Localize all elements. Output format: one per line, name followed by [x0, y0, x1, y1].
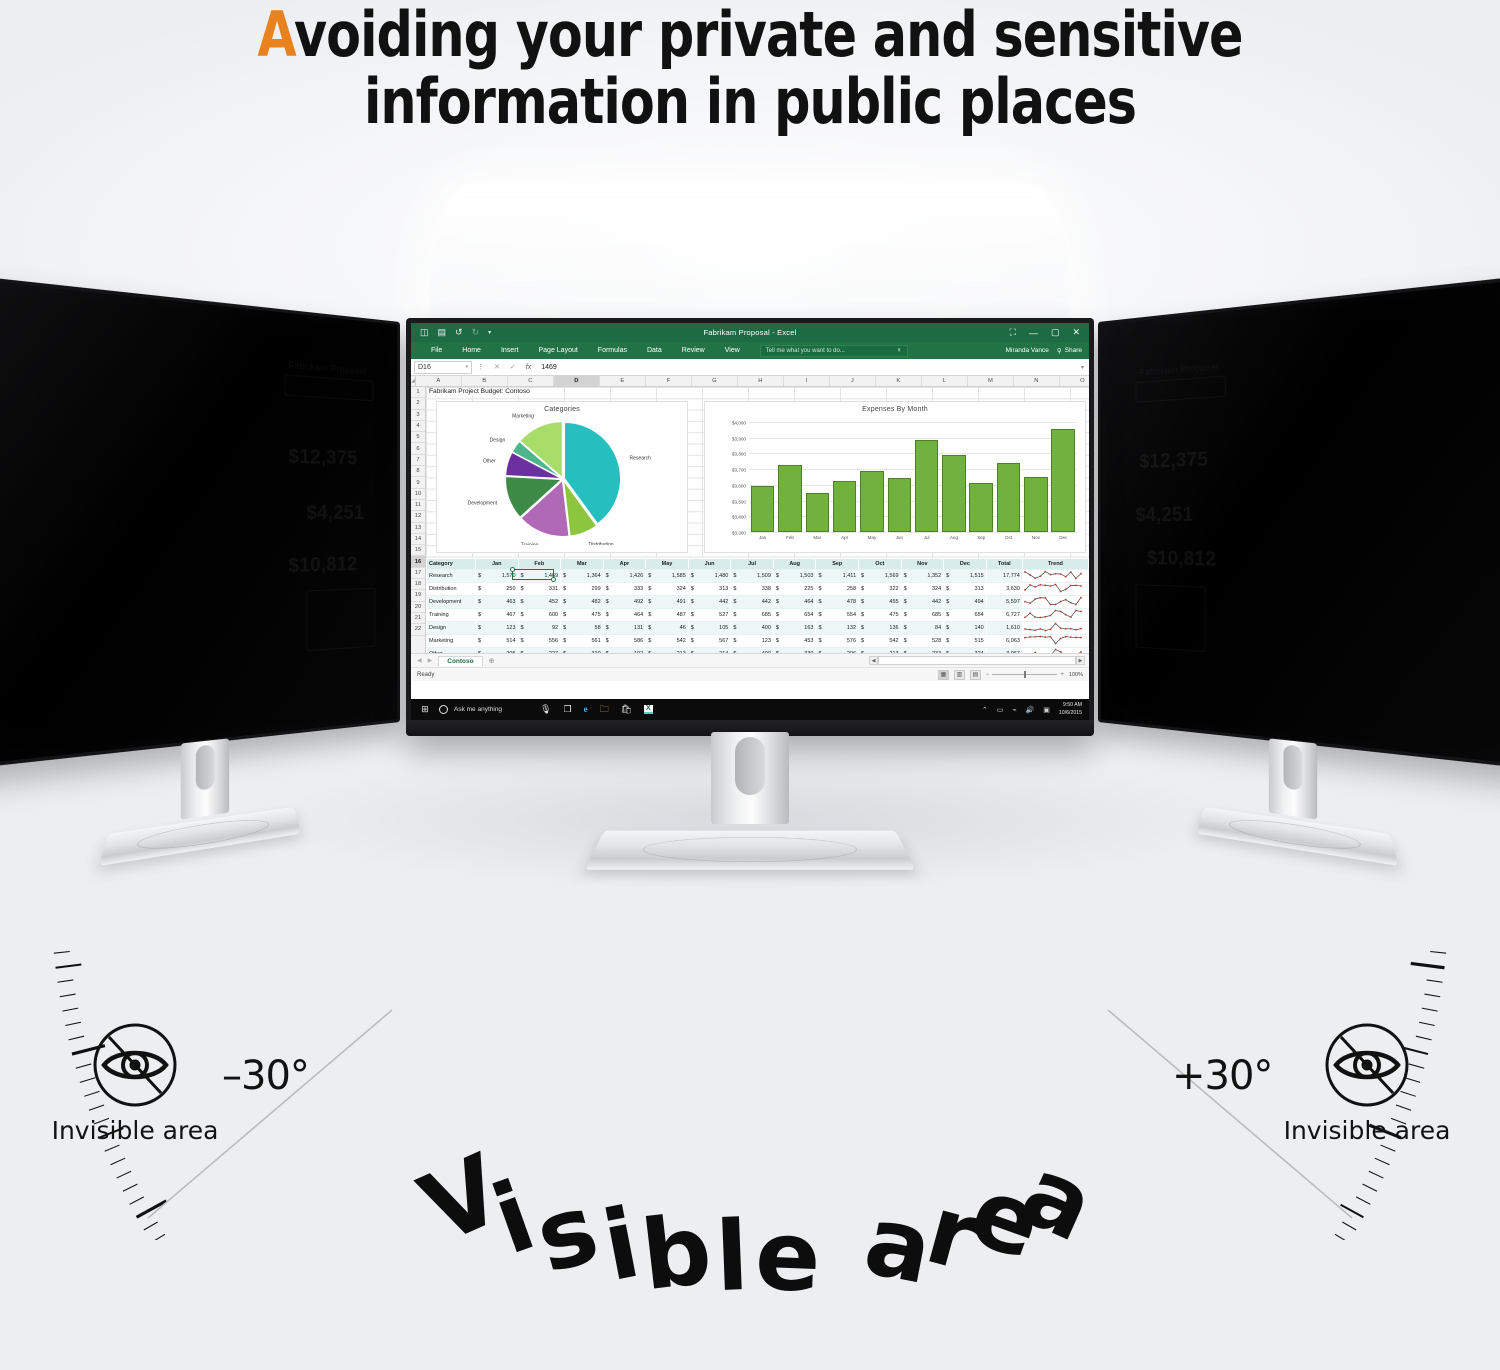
table-cell-value[interactable]: $685: [901, 609, 944, 622]
scroll-left-icon[interactable]: ◀: [869, 656, 878, 665]
bar-column-aug[interactable]: [942, 422, 966, 532]
table-cell-value[interactable]: $338: [731, 583, 774, 596]
row-header-1[interactable]: 1: [411, 387, 425, 398]
table-cell-value[interactable]: $105: [688, 622, 731, 635]
table-cell-category[interactable]: Marketing: [427, 635, 476, 648]
table-cell-value[interactable]: $225: [773, 583, 816, 596]
table-cell-value[interactable]: $213: [646, 648, 689, 653]
table-cell-value[interactable]: $400: [731, 622, 774, 635]
task-view-icon[interactable]: ❐: [564, 705, 572, 714]
table-cell-trend-sparkline[interactable]: [1022, 596, 1088, 609]
excel-icon[interactable]: X: [644, 705, 653, 714]
table-cell-value[interactable]: $554: [816, 609, 859, 622]
table-header-oct[interactable]: Oct: [859, 559, 902, 570]
column-header-i[interactable]: I: [784, 376, 830, 386]
table-header-feb[interactable]: Feb: [518, 559, 561, 570]
visible-area-letter: b: [636, 1193, 717, 1312]
tab-formulas[interactable]: Formulas: [588, 347, 637, 354]
tab-page-layout[interactable]: Page Layout: [528, 347, 587, 354]
table-cell-value[interactable]: $442: [688, 596, 731, 609]
zoom-in-icon[interactable]: +: [1060, 672, 1064, 678]
column-header-n[interactable]: N: [1014, 376, 1060, 386]
table-cell-value[interactable]: $561: [561, 635, 604, 648]
table-cell-value[interactable]: $494: [944, 596, 987, 609]
table-row[interactable]: Training$467$600$475$464$487$527$685$654…: [427, 609, 1089, 622]
ghost-text: Fabrikam Proposal: [1139, 361, 1218, 378]
table-cell-value[interactable]: $1,352: [901, 570, 944, 583]
enter-icon[interactable]: ✓: [505, 363, 521, 371]
row-header-13[interactable]: 13: [411, 523, 425, 534]
table-cell-value[interactable]: $299: [561, 583, 604, 596]
formula-bar[interactable]: D16 ▾ ⋮ ✕ ✓ fx 1469 ▾: [411, 359, 1089, 376]
table-cell-value[interactable]: $478: [816, 596, 859, 609]
table-cell-value[interactable]: $1,503: [773, 570, 816, 583]
table-row[interactable]: Marketing$514$556$561$586$542$567$123$45…: [427, 635, 1089, 648]
bar-column-apr[interactable]: [833, 422, 857, 532]
protractor-minor-tick: [1363, 1184, 1377, 1191]
pie-chart-canvas: ResearchDistributionTrainingDevelopmentO…: [437, 413, 689, 545]
horizontal-scrollbar[interactable]: ◀ ▶: [869, 656, 1089, 665]
taskbar-system-tray[interactable]: ⌃ ▭ ⌁ 🔊 ▣ 9:50 AM 10/6/2015: [982, 702, 1089, 716]
table-cell-total[interactable]: 5,597: [986, 596, 1022, 609]
bar-column-jul[interactable]: [915, 422, 939, 532]
column-header-b[interactable]: B: [462, 376, 508, 386]
stand-neck: [181, 738, 229, 819]
row-header-22[interactable]: 22: [411, 624, 425, 635]
table-header-trend[interactable]: Trend: [1022, 559, 1088, 570]
table-cell-value[interactable]: $492: [603, 596, 646, 609]
table-cell-value[interactable]: $333: [603, 583, 646, 596]
table-cell-category[interactable]: Distribution: [427, 583, 476, 596]
table-cell-value[interactable]: $514: [475, 635, 518, 648]
ribbon-tab-bar[interactable]: File Home Insert Page Layout Formulas Da…: [411, 342, 1089, 359]
row-header-19[interactable]: 19: [411, 590, 425, 601]
windows-taskbar[interactable]: ⊞ Ask me anything 🎙 ❐ e 🗀 🛍 X ⌃ ▭ ⌁: [411, 699, 1089, 720]
protractor-minor-tick: [1369, 1171, 1383, 1178]
bar-column-sep[interactable]: [969, 422, 993, 532]
table-cell-value[interactable]: $258: [816, 583, 859, 596]
table-cell-value[interactable]: $464: [603, 609, 646, 622]
center-monitor-bezel: ◫ ▤ ↺ ↻ ▾ Fabrikam Proposal - Excel ⛶ — …: [406, 318, 1094, 736]
save-icon[interactable]: ▤: [438, 327, 447, 338]
table-cell-value[interactable]: $205: [475, 648, 518, 653]
table-cell-value[interactable]: $313: [944, 583, 987, 596]
formula-input[interactable]: 1469: [536, 364, 1081, 371]
table-cell-value[interactable]: $140: [944, 622, 987, 635]
undo-icon[interactable]: ↺: [455, 327, 463, 338]
table-row[interactable]: Research$1,570$1,469$1,364$1,426$1,585$1…: [427, 570, 1089, 583]
table-cell-value[interactable]: $1,585: [646, 570, 689, 583]
status-bar-right[interactable]: ▦ ▥ ▤ − + 100%: [938, 670, 1083, 680]
row-header-3[interactable]: 3: [411, 410, 425, 421]
action-center-icon[interactable]: ⌁: [1012, 706, 1016, 714]
table-cell-value[interactable]: $324: [901, 583, 944, 596]
ghost-value-3: $10,812: [1147, 548, 1216, 572]
normal-view-icon[interactable]: ▦: [938, 670, 949, 680]
notifications-icon[interactable]: ▣: [1043, 706, 1050, 714]
protractor-minor-tick: [60, 994, 76, 997]
table-cell-category[interactable]: Development: [427, 596, 476, 609]
insert-function-menu-icon[interactable]: ⋮: [472, 363, 489, 371]
bar-column-dec[interactable]: [1051, 422, 1075, 532]
minimize-button[interactable]: —: [1029, 328, 1038, 338]
visible-area-letter: l: [714, 1200, 751, 1313]
row-header-9[interactable]: 9: [411, 477, 425, 488]
column-header-g[interactable]: G: [692, 376, 738, 386]
row-header-18[interactable]: 18: [411, 579, 425, 590]
row-header-21[interactable]: 21: [411, 613, 425, 624]
y-tick-4: $3,700: [732, 468, 746, 473]
protractor-minor-tick: [105, 1145, 120, 1151]
column-header-e[interactable]: E: [600, 376, 646, 386]
table-header-dec[interactable]: Dec: [944, 559, 987, 570]
taskbar-pinned-icons[interactable]: 🎙 ❐ e 🗀 🛍 X: [540, 705, 653, 714]
network-icon[interactable]: ▭: [997, 706, 1004, 714]
table-cell-value[interactable]: $400: [731, 648, 774, 653]
table-cell-trend-sparkline[interactable]: [1022, 609, 1088, 622]
center-monitor: ◫ ▤ ↺ ↻ ▾ Fabrikam Proposal - Excel ⛶ — …: [406, 318, 1094, 736]
visible-area-label: Visiblearea: [330, 1150, 1190, 1370]
windows-start-icon[interactable]: ⊞: [411, 704, 439, 715]
column-header-m[interactable]: M: [968, 376, 1014, 386]
column-header-c[interactable]: C: [508, 376, 554, 386]
table-cell-value[interactable]: $310: [561, 648, 604, 653]
table-cell-value[interactable]: $487: [646, 609, 689, 622]
zoom-level-label[interactable]: 100%: [1069, 672, 1083, 678]
left-invisible-area-label: Invisible area: [30, 1022, 240, 1145]
name-box-value: D16: [418, 364, 431, 371]
table-cell-value[interactable]: $214: [688, 648, 731, 653]
table-cell-value[interactable]: $163: [773, 622, 816, 635]
row-header-6[interactable]: 6: [411, 443, 425, 454]
status-bar: Ready ▦ ▥ ▤ − + 100%: [411, 667, 1089, 681]
left-invisible-area-text: Invisible area: [30, 1116, 240, 1145]
table-cell-category[interactable]: Other: [427, 648, 476, 653]
column-header-d[interactable]: D: [554, 376, 600, 386]
insert-function-icon[interactable]: fx: [521, 364, 536, 371]
table-cell-value[interactable]: $46: [646, 622, 689, 635]
table-cell-value[interactable]: $206: [816, 648, 859, 653]
protractor-minor-tick: [151, 1234, 165, 1240]
share-button[interactable]: ⚲ Share: [1057, 347, 1082, 355]
table-header-apr[interactable]: Apr: [603, 559, 646, 570]
bar-column-jun[interactable]: [888, 422, 912, 532]
table-cell-value[interactable]: $685: [731, 609, 774, 622]
show-hidden-icons-icon[interactable]: ⌃: [982, 706, 988, 714]
customize-qat-icon[interactable]: ▾: [488, 329, 491, 336]
x-tick-dec: Dec: [1051, 535, 1075, 540]
table-cell-total[interactable]: 3,067: [986, 648, 1022, 653]
y-tick-3: $3,600: [732, 483, 746, 488]
table-cell-total[interactable]: 1,610: [986, 622, 1022, 635]
table-cell-value[interactable]: $463: [475, 596, 518, 609]
zoom-track[interactable]: [992, 674, 1057, 675]
autosave-icon[interactable]: ◫: [420, 327, 429, 338]
table-cell-value[interactable]: $1,469: [518, 570, 561, 583]
sheet-tab-contoso[interactable]: Contoso: [438, 656, 482, 666]
table-cell-total[interactable]: 6,727: [986, 609, 1022, 622]
protractor-minor-tick: [144, 1222, 158, 1230]
table-cell-value[interactable]: $92: [518, 622, 561, 635]
microphone-icon[interactable]: 🎙: [540, 705, 551, 714]
column-headers[interactable]: ◢ ABCDEFGHIJKLMNOPQR: [411, 376, 1089, 387]
tab-file[interactable]: File: [421, 347, 452, 354]
y-tick-5: $3,800: [732, 452, 746, 457]
zoom-out-icon[interactable]: −: [986, 672, 990, 678]
table-cell-total[interactable]: 3,630: [986, 583, 1022, 596]
column-header-j[interactable]: J: [830, 376, 876, 386]
pie-chart[interactable]: Categories ResearchDistributionTrainingD…: [436, 401, 688, 553]
table-header-jul[interactable]: Jul: [731, 559, 774, 570]
budget-table[interactable]: CategoryJanFebMarAprMayJunJulAugSepOctNo…: [426, 558, 1089, 653]
row-header-12[interactable]: 12: [411, 511, 425, 522]
table-cell-value[interactable]: $442: [731, 596, 774, 609]
cell-a1[interactable]: Fabrikam Project Budget: Contoso: [429, 388, 533, 395]
table-cell-value[interactable]: $475: [561, 609, 604, 622]
bar-column-may[interactable]: [860, 422, 884, 532]
table-cell-category[interactable]: Training: [427, 609, 476, 622]
table-row[interactable]: Development$463$452$482$492$491$442$442$…: [427, 596, 1089, 609]
budget-table-element: CategoryJanFebMarAprMayJunJulAugSepOctNo…: [426, 558, 1089, 653]
stand-neck: [1269, 738, 1317, 819]
table-cell-category[interactable]: Design: [427, 622, 476, 635]
bar-chart[interactable]: Expenses By Month $3,300$3,400$3,500$3,6…: [704, 401, 1086, 553]
table-cell-value[interactable]: $467: [475, 609, 518, 622]
user-area[interactable]: Miranda Vance ⚲ Share: [1006, 347, 1089, 355]
table-cell-value[interactable]: $136: [859, 622, 902, 635]
lightbulb-icon: ♀: [897, 347, 902, 354]
ribbon-display-options-icon[interactable]: ⛶: [1010, 327, 1016, 338]
table-cell-value[interactable]: $1,570: [475, 570, 518, 583]
redo-icon[interactable]: ↻: [472, 327, 480, 338]
table-cell-value[interactable]: $1,426: [603, 570, 646, 583]
table-cell-value[interactable]: $227: [518, 648, 561, 653]
bar-column-feb[interactable]: [778, 422, 802, 532]
quick-access-toolbar[interactable]: ◫ ▤ ↺ ↻ ▾: [411, 327, 491, 338]
x-tick-sep: Sep: [969, 535, 993, 540]
table-row[interactable]: Other$205$227$310$192$213$214$400$330$20…: [427, 648, 1089, 653]
first-sheet-arrow-icon[interactable]: ◀: [417, 657, 422, 664]
table-cell-value[interactable]: $515: [944, 635, 987, 648]
sheet-surface[interactable]: Fabrikam Project Budget: Contoso Categor…: [426, 387, 1089, 653]
name-box[interactable]: D16 ▾: [414, 361, 472, 374]
expand-formula-bar-icon[interactable]: ▾: [1081, 364, 1089, 371]
table-cell-value[interactable]: $576: [816, 635, 859, 648]
bar-feb: [778, 465, 802, 532]
table-cell-value[interactable]: $600: [518, 609, 561, 622]
user-name-label: Miranda Vance: [1006, 347, 1049, 354]
row-header-20[interactable]: 20: [411, 602, 425, 613]
table-cell-value[interactable]: $442: [901, 596, 944, 609]
row-header-16[interactable]: 16: [411, 556, 425, 567]
row-header-2[interactable]: 2: [411, 398, 425, 409]
table-cell-value[interactable]: $464: [773, 596, 816, 609]
add-sheet-icon[interactable]: ⊕: [489, 657, 495, 665]
table-cell-value[interactable]: $192: [603, 648, 646, 653]
row-header-7[interactable]: 7: [411, 455, 425, 466]
column-header-k[interactable]: K: [876, 376, 922, 386]
row-header-4[interactable]: 4: [411, 421, 425, 432]
table-cell-value[interactable]: $313: [688, 583, 731, 596]
row-headers[interactable]: 12345678910111213141516171819202122: [411, 387, 426, 653]
table-cell-value[interactable]: $586: [603, 635, 646, 648]
table-cell-value[interactable]: $542: [859, 635, 902, 648]
column-header-o[interactable]: O: [1060, 376, 1089, 386]
tab-home[interactable]: Home: [452, 347, 491, 354]
table-cell-trend-sparkline[interactable]: [1022, 648, 1088, 653]
row-header-5[interactable]: 5: [411, 432, 425, 443]
cancel-icon[interactable]: ✕: [489, 363, 505, 371]
volume-icon[interactable]: 🔊: [1026, 706, 1035, 714]
sparkline: [1023, 570, 1083, 580]
table-cell-value[interactable]: $1,411: [816, 570, 859, 583]
table-cell-value[interactable]: $84: [901, 622, 944, 635]
sparkline: [1023, 635, 1083, 645]
scroll-right-icon[interactable]: ▶: [1076, 656, 1085, 665]
table-cell-trend-sparkline[interactable]: [1022, 635, 1088, 648]
bar-oct: [997, 463, 1021, 532]
right-invisible-area-text: Invisible area: [1262, 1116, 1472, 1145]
table-cell-value[interactable]: $528: [901, 635, 944, 648]
table-cell-value[interactable]: $324: [944, 648, 987, 653]
column-header-f[interactable]: F: [646, 376, 692, 386]
table-cell-value[interactable]: $1,569: [859, 570, 902, 583]
bar-column-nov[interactable]: [1024, 422, 1048, 532]
table-cell-value[interactable]: $213: [859, 648, 902, 653]
table-cell-value[interactable]: $527: [688, 609, 731, 622]
table-cell-value[interactable]: $58: [561, 622, 604, 635]
bar-chart-plot: $3,300$3,400$3,500$3,600$3,700$3,800$3,9…: [749, 422, 1077, 532]
table-cell-value[interactable]: $233: [901, 648, 944, 653]
worksheet-grid[interactable]: ◢ ABCDEFGHIJKLMNOPQR 1234567891011121314…: [411, 376, 1089, 653]
tab-data[interactable]: Data: [637, 347, 672, 354]
tell-me-search[interactable]: Tell me what you want to do... ♀: [760, 345, 908, 357]
table-cell-value[interactable]: $475: [859, 609, 902, 622]
window-controls[interactable]: ⛶ — ▢ ✕: [1010, 327, 1089, 338]
table-cell-value[interactable]: $1,515: [944, 570, 987, 583]
table-row[interactable]: Design$123$92$58$131$46$105$400$163$132$…: [427, 622, 1089, 635]
ghost-value-2: $4,251: [307, 502, 365, 525]
table-header-jan[interactable]: Jan: [475, 559, 518, 570]
chevron-down-icon[interactable]: ▾: [465, 364, 468, 370]
table-cell-value[interactable]: $452: [518, 596, 561, 609]
close-button[interactable]: ✕: [1072, 327, 1080, 338]
store-icon[interactable]: 🛍: [621, 705, 632, 714]
table-cell-value[interactable]: $1,364: [561, 570, 604, 583]
table-cell-value[interactable]: $556: [518, 635, 561, 648]
tab-insert[interactable]: Insert: [491, 347, 529, 354]
backdrop-arch-glow: [430, 185, 1070, 335]
table-header-mar[interactable]: Mar: [561, 559, 604, 570]
table-cell-value[interactable]: $250: [475, 583, 518, 596]
table-cell-value[interactable]: $455: [859, 596, 902, 609]
page-break-view-icon[interactable]: ▤: [970, 670, 981, 680]
ghost-value-3: $10,812: [288, 554, 357, 578]
zoom-slider[interactable]: − +: [986, 672, 1064, 678]
right-angle-label: +30°: [1172, 1053, 1272, 1099]
table-cell-value[interactable]: $654: [773, 609, 816, 622]
table-header-jun[interactable]: Jun: [688, 559, 731, 570]
table-header-nov[interactable]: Nov: [901, 559, 944, 570]
table-row[interactable]: Distribution$250$331$299$333$324$313$338…: [427, 583, 1089, 596]
row-header-11[interactable]: 11: [411, 500, 425, 511]
table-cell-trend-sparkline[interactable]: [1022, 622, 1088, 635]
prev-sheet-arrow-icon[interactable]: ▶: [428, 657, 433, 664]
table-header-sep[interactable]: Sep: [816, 559, 859, 570]
table-cell-value[interactable]: $123: [731, 635, 774, 648]
table-cell-value[interactable]: $491: [646, 596, 689, 609]
table-header-category[interactable]: Category: [427, 559, 476, 570]
zoom-knob[interactable]: [1024, 671, 1026, 678]
pie-label-distribution: Distribution: [589, 542, 614, 545]
table-cell-value[interactable]: $1,509: [731, 570, 774, 583]
table-cell-trend-sparkline[interactable]: [1022, 570, 1088, 583]
headline-line-1: Avoiding your private and sensitive: [135, 2, 1365, 69]
table-cell-trend-sparkline[interactable]: [1022, 583, 1088, 596]
column-header-l[interactable]: L: [922, 376, 968, 386]
table-cell-value[interactable]: $123: [475, 622, 518, 635]
page-layout-view-icon[interactable]: ▥: [954, 670, 965, 680]
bar-column-oct[interactable]: [997, 422, 1021, 532]
table-cell-value[interactable]: $1,480: [688, 570, 731, 583]
table-cell-value[interactable]: $542: [646, 635, 689, 648]
table-cell-value[interactable]: $322: [859, 583, 902, 596]
table-cell-value[interactable]: $132: [816, 622, 859, 635]
cortana-icon[interactable]: [439, 705, 448, 714]
row-header-14[interactable]: 14: [411, 534, 425, 545]
table-cell-value[interactable]: $331: [518, 583, 561, 596]
file-explorer-icon[interactable]: 🗀: [600, 705, 609, 714]
table-cell-value[interactable]: $567: [688, 635, 731, 648]
table-cell-total[interactable]: 17,774: [986, 570, 1022, 583]
table-cell-total[interactable]: 6,063: [986, 635, 1022, 648]
maximize-button[interactable]: ▢: [1051, 327, 1060, 338]
scrollbar-track[interactable]: [878, 656, 1076, 665]
protractor-minor-tick: [1375, 1158, 1390, 1165]
protractor-minor-tick: [62, 1008, 78, 1011]
tab-review[interactable]: Review: [672, 347, 715, 354]
edge-icon[interactable]: e: [584, 705, 588, 714]
sheet-tab-bar[interactable]: ◀ ▶ Contoso ⊕ ◀ ▶: [411, 653, 1089, 667]
column-header-h[interactable]: H: [738, 376, 784, 386]
taskbar-clock[interactable]: 9:50 AM 10/6/2015: [1059, 702, 1082, 716]
bar-column-jan[interactable]: [751, 422, 775, 532]
row-header-17[interactable]: 17: [411, 568, 425, 579]
row-header-10[interactable]: 10: [411, 489, 425, 500]
protractor-major-tick: [1411, 963, 1445, 967]
cortana-search-box[interactable]: Ask me anything: [439, 705, 512, 714]
table-cell-value[interactable]: $654: [944, 609, 987, 622]
row-header-8[interactable]: 8: [411, 466, 425, 477]
column-header-a[interactable]: A: [416, 376, 462, 386]
tab-view[interactable]: View: [715, 347, 750, 354]
table-cell-value[interactable]: $330: [773, 648, 816, 653]
row-header-15[interactable]: 15: [411, 545, 425, 556]
table-cell-value[interactable]: $131: [603, 622, 646, 635]
table-cell-value[interactable]: $482: [561, 596, 604, 609]
bar-column-mar[interactable]: [806, 422, 830, 532]
sparkline: [1023, 596, 1083, 606]
table-header-total[interactable]: Total: [986, 559, 1022, 570]
table-cell-value[interactable]: $324: [646, 583, 689, 596]
table-cell-category[interactable]: Research: [427, 570, 476, 583]
table-header-aug[interactable]: Aug: [773, 559, 816, 570]
table-cell-value[interactable]: $453: [773, 635, 816, 648]
table-header-may[interactable]: May: [646, 559, 689, 570]
x-tick-oct: Oct: [997, 535, 1021, 540]
clock-date: 10/6/2015: [1059, 710, 1082, 717]
protractor-minor-tick: [54, 951, 70, 953]
